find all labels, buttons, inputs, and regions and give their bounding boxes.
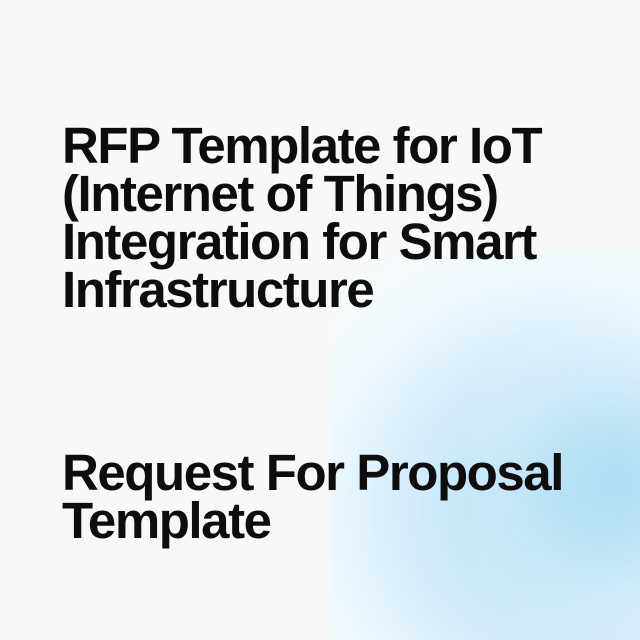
cover-text-layer: RFP Template for IoT (Internet of Things… bbox=[0, 0, 640, 640]
page-title: RFP Template for IoT (Internet of Things… bbox=[62, 122, 562, 314]
page-subtitle: Request For Proposal Template bbox=[62, 449, 582, 545]
cover-page: RFP Template for IoT (Internet of Things… bbox=[0, 0, 640, 640]
